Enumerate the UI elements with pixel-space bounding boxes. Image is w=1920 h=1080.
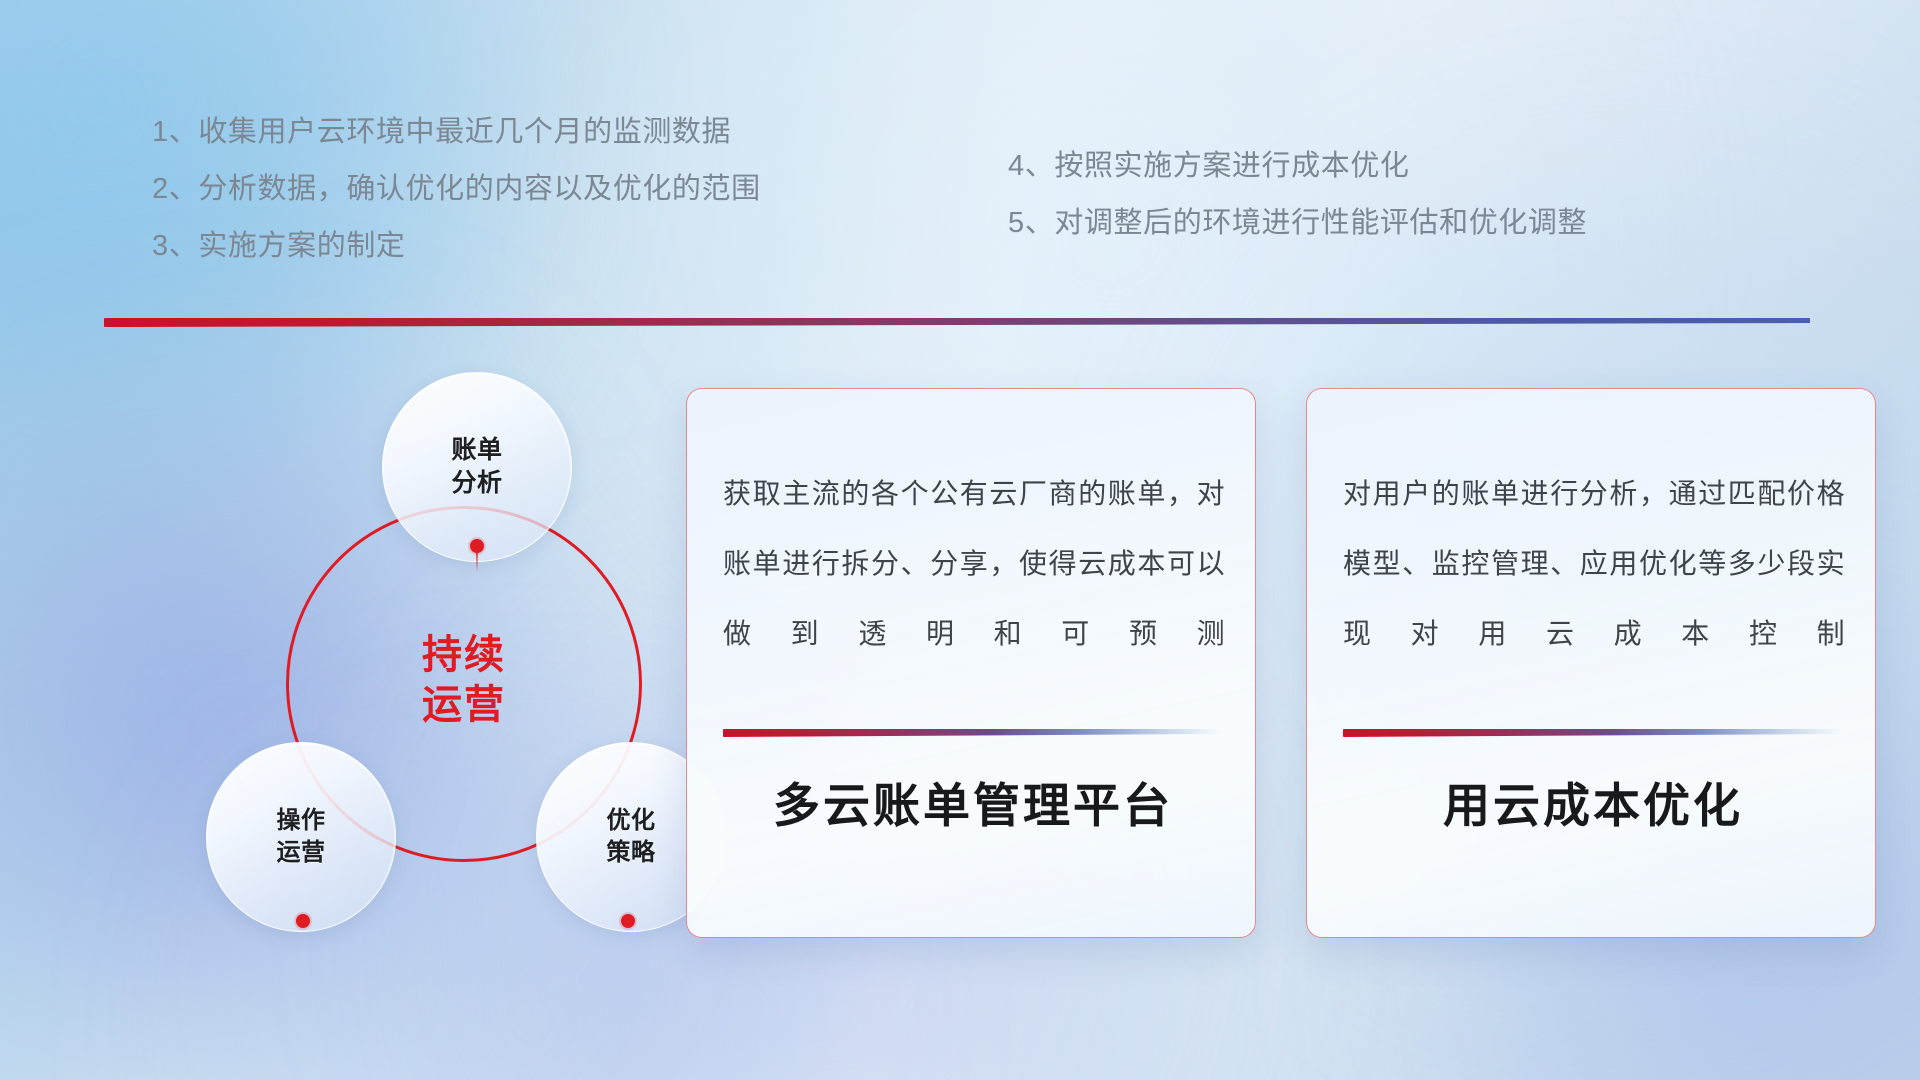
diagram-node-operation-ops[interactable]: 操作 运营 [206, 742, 396, 932]
node-label-line2: 分析 [451, 467, 502, 500]
center-label-line1: 持续 [358, 630, 570, 680]
step-item-5: 5、对调整后的环境进行性能评估和优化调整 [1008, 195, 1587, 252]
node-label-line1: 账单 [451, 434, 502, 467]
connector-tick-top [476, 552, 478, 572]
node-label-line2: 策略 [607, 837, 656, 869]
connector-dot-top [470, 539, 484, 553]
step-item-1: 1、收集用户云环境中最近几个月的监测数据 [152, 104, 761, 161]
node-label-line1: 操作 [277, 805, 326, 837]
diagram-node-label: 操作 运营 [277, 805, 326, 869]
diagram-node-billing-analysis[interactable]: 账单 分析 [382, 372, 572, 562]
step-item-4: 4、按照实施方案进行成本优化 [1008, 138, 1587, 195]
center-label-line2: 运营 [358, 680, 570, 730]
connector-dot-bottom-left [296, 914, 310, 928]
step-item-2: 2、分析数据，确认优化的内容以及优化的范围 [152, 161, 761, 218]
feature-card-multi-cloud-billing-platform[interactable]: 获取主流的各个公有云厂商的账单，对账单进行拆分、分享，使得云成本可以做到透明和可… [686, 388, 1256, 938]
steps-column-right: 4、按照实施方案进行成本优化 5、对调整后的环境进行性能评估和优化调整 [1008, 138, 1587, 252]
slide-canvas: 1、收集用户云环境中最近几个月的监测数据 2、分析数据，确认优化的内容以及优化的… [0, 0, 1920, 1080]
node-label-line1: 优化 [607, 805, 656, 837]
node-label-line2: 运营 [277, 837, 326, 869]
diagram-node-label: 优化 策略 [607, 805, 656, 869]
steps-column-left: 1、收集用户云环境中最近几个月的监测数据 2、分析数据，确认优化的内容以及优化的… [152, 104, 761, 275]
card-body-text: 获取主流的各个公有云厂商的账单，对账单进行拆分、分享，使得云成本可以做到透明和可… [723, 459, 1225, 669]
card-title: 多云账单管理平台 [721, 775, 1225, 837]
step-item-3: 3、实施方案的制定 [152, 218, 761, 275]
connector-dot-bottom-right [621, 914, 635, 928]
card-title: 用云成本优化 [1341, 775, 1845, 837]
card-body-text: 对用户的账单进行分析，通过匹配价格模型、监控管理、应用优化等多少段实现对用云成本… [1343, 459, 1845, 669]
steps-list: 1、收集用户云环境中最近几个月的监测数据 2、分析数据，确认优化的内容以及优化的… [0, 104, 1920, 294]
continuous-operation-diagram: 持续 运营 账单 分析 操作 运营 优化 策略 [96, 350, 656, 950]
diagram-node-label: 账单 分析 [451, 434, 502, 500]
card-divider-rule [1343, 729, 1841, 737]
card-divider-rule [723, 729, 1221, 737]
feature-card-cloud-cost-optimization[interactable]: 对用户的账单进行分析，通过匹配价格模型、监控管理、应用优化等多少段实现对用云成本… [1306, 388, 1876, 938]
diagram-center-label: 持续 运营 [358, 630, 570, 730]
